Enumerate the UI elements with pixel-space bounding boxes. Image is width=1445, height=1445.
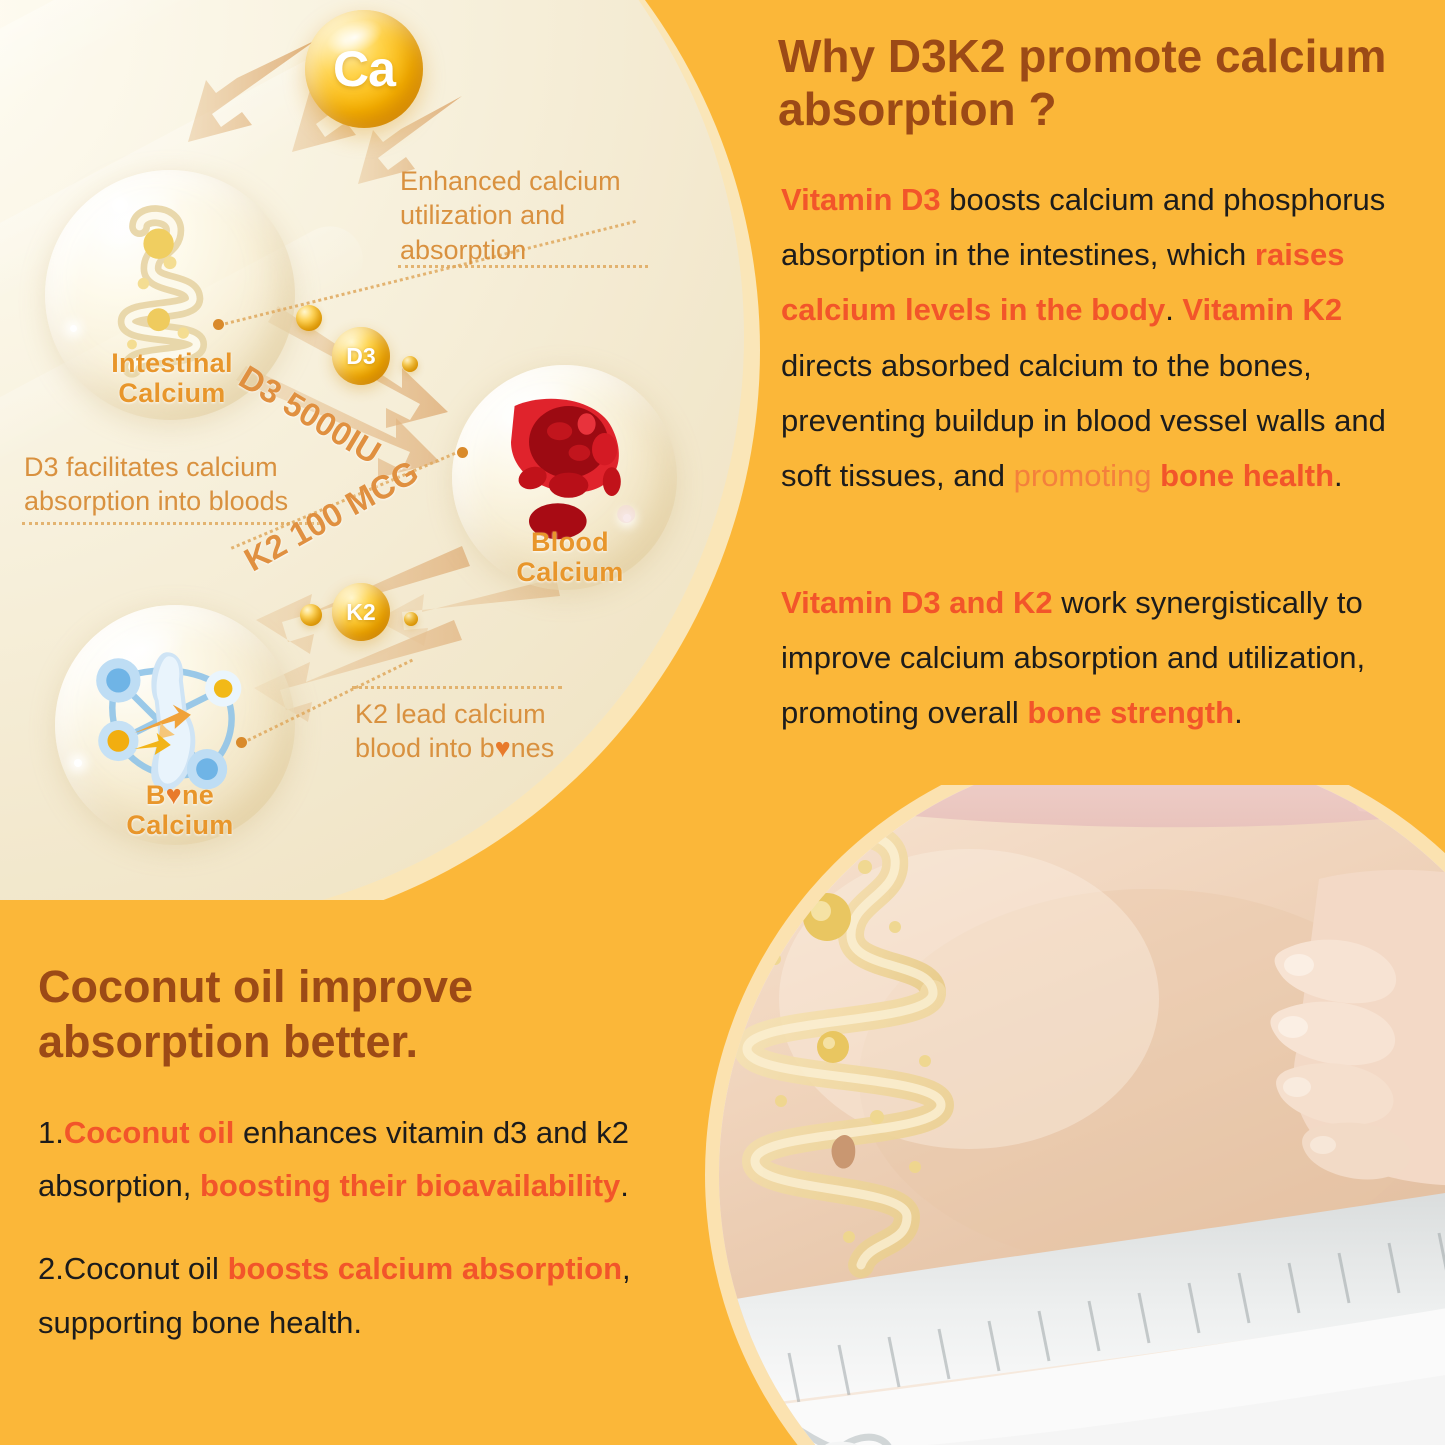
infographic-page: Ca <box>0 0 1445 1445</box>
calcium-flow-diagram: Ca <box>0 0 760 900</box>
text-run: Vitamin D3 <box>781 182 941 217</box>
section-heading-why-d3k2: Why D3K2 promote calcium absorption ? <box>778 30 1418 137</box>
coconut-oil-point-1: 1.Coconut oil enhances vitamin d3 and k2… <box>38 1106 688 1213</box>
text-run: bone health <box>1160 458 1334 493</box>
text-run: . <box>1165 292 1182 327</box>
text-run: Vitamin D3 and K2 <box>781 585 1053 620</box>
text-run: boosting their bioavailability <box>200 1168 620 1203</box>
abdomen-photo-panel <box>645 785 1445 1445</box>
text-run: 1. <box>38 1115 64 1150</box>
leader-dot <box>213 319 224 330</box>
coconut-oil-section: Coconut oil improve absorption better. 1… <box>38 960 698 1379</box>
leader-dot <box>236 737 247 748</box>
photo-circle-mask <box>719 785 1445 1445</box>
caption-enhanced-absorption: Enhanced calcium utilization and absorpt… <box>400 164 660 267</box>
caption-k2-lead: K2 lead calcium blood into b♥nes <box>355 697 605 766</box>
text-run: boosts calcium absorption <box>228 1251 622 1286</box>
oil-droplet <box>402 356 418 372</box>
oil-droplet <box>300 604 322 626</box>
text-run: . <box>1234 695 1243 730</box>
vitamin-k2-pill: K2 <box>332 583 390 641</box>
woman-abdomen-photo <box>719 785 1445 1445</box>
text-run: . <box>1334 458 1343 493</box>
text-run: promoting <box>1014 458 1160 493</box>
vitamin-d3-pill-label: D3 <box>346 343 375 370</box>
heart-icon: ♥ <box>166 780 182 810</box>
text-run: Vitamin K2 <box>1182 292 1342 327</box>
leader-dot <box>457 447 468 458</box>
oil-droplet <box>296 305 322 331</box>
paragraph-d3k2-mechanism: Vitamin D3 boosts calcium and phosphorus… <box>781 172 1441 503</box>
paragraph-d3k2-synergy: Vitamin D3 and K2 work synergistically t… <box>781 575 1441 741</box>
coconut-oil-point-2: 2.Coconut oil boosts calcium absorption,… <box>38 1242 688 1349</box>
bone-calcium-label: B♥ne Calcium <box>60 780 300 840</box>
heart-icon: ♥ <box>495 733 511 763</box>
vitamin-k2-pill-label: K2 <box>346 599 375 626</box>
section-heading-coconut-oil: Coconut oil improve absorption better. <box>38 960 698 1070</box>
text-run: . <box>620 1168 629 1203</box>
vitamin-d3-pill: D3 <box>332 327 390 385</box>
leader-underline-k2 <box>352 686 562 689</box>
blood-calcium-label: Blood Calcium <box>470 527 670 587</box>
text-run: Coconut oil <box>64 1115 234 1150</box>
caption-d3-facilitates: D3 facilitates calcium absorption into b… <box>24 450 324 519</box>
text-run: bone strength <box>1027 695 1234 730</box>
why-d3k2-section: Why D3K2 promote calcium absorption ? Vi… <box>778 0 1438 790</box>
oil-droplet <box>404 612 418 626</box>
text-run: 2.Coconut oil <box>38 1251 228 1286</box>
calcium-bubble: Ca <box>305 10 423 128</box>
